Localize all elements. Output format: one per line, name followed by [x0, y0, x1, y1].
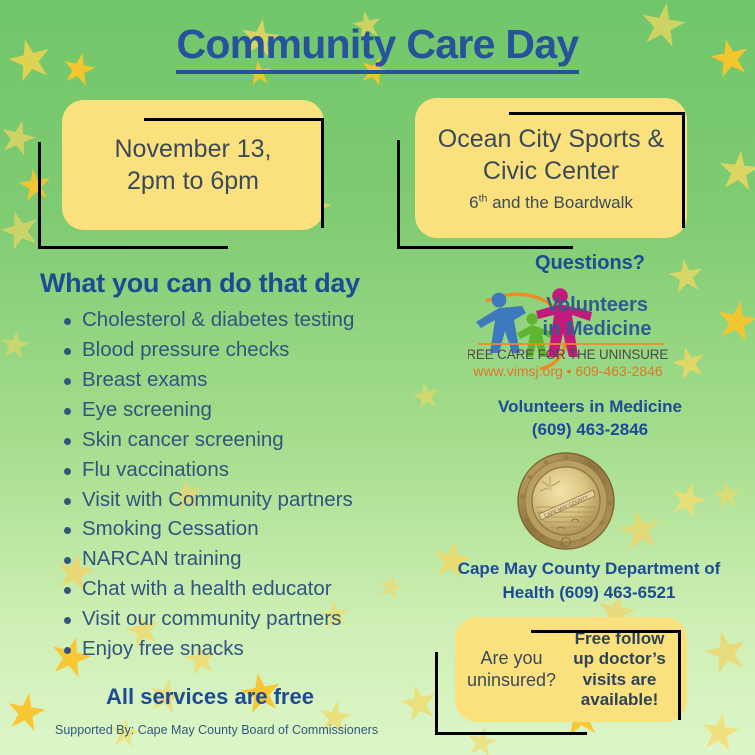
date-card: November 13, 2pm to 6pm: [62, 100, 324, 230]
list-item: NARCAN training: [40, 544, 440, 574]
list-item: Breast exams: [40, 365, 440, 395]
services-heading: What you can do that day: [40, 268, 440, 299]
all-services-free-note: All services are free: [40, 684, 440, 710]
vim-name: Volunteers in Medicine: [440, 396, 740, 419]
venue-card-address: 6th and the Boardwalk: [469, 192, 633, 214]
uninsured-card: Are you uninsured? Free follow up doctor…: [455, 617, 687, 722]
star-icon: [699, 625, 752, 678]
health-dept-line2: Health (609) 463-6521: [424, 581, 754, 605]
uninsured-card-body: Are you uninsured? Free follow up doctor…: [455, 617, 687, 722]
date-card-line1: November 13,: [114, 133, 271, 165]
questions-label: Questions?: [440, 252, 740, 275]
list-item: Blood pressure checks: [40, 335, 440, 365]
list-item: Smoking Cessation: [40, 514, 440, 544]
date-card-body: November 13, 2pm to 6pm: [62, 100, 324, 230]
page-title: Community Care Day: [176, 22, 578, 74]
volunteers-in-medicine-logo: Volunteers in Medicine FREE CARE FOR THE…: [468, 281, 668, 381]
venue-card-line2: Civic Center: [483, 155, 619, 187]
list-item: Enjoy free snacks: [40, 634, 440, 664]
services-list: Cholesterol & diabetes testingBlood pres…: [40, 305, 440, 664]
uninsured-question: Are you uninsured?: [467, 648, 556, 692]
star-icon: [615, 505, 666, 556]
vim-contact-text: Volunteers in Medicine (609) 463-2846: [440, 396, 740, 442]
poster-canvas: Community Care Day November 13, 2pm to 6…: [0, 0, 755, 755]
star-icon: [668, 342, 709, 383]
star-icon: [0, 205, 45, 254]
star-icon: [716, 148, 755, 194]
svg-text:Volunteers: Volunteers: [546, 294, 648, 316]
venue-address-rest: and the Boardwalk: [487, 193, 633, 212]
star-icon: [463, 723, 500, 755]
star-icon: [16, 166, 54, 204]
star-icon: [0, 116, 40, 160]
health-department-contact: Cape May County Department of Health (60…: [424, 557, 754, 605]
star-icon: [713, 297, 755, 346]
vim-phone: (609) 463-2846: [440, 419, 740, 442]
venue-card: Ocean City Sports & Civic Center 6th and…: [415, 98, 687, 238]
date-card-line2: 2pm to 6pm: [127, 165, 259, 197]
star-icon: [0, 328, 32, 362]
star-icon: [711, 479, 744, 512]
svg-text:in Medicine: in Medicine: [543, 318, 652, 340]
svg-text:FREE CARE FOR THE UNINSURED: FREE CARE FOR THE UNINSURED: [468, 347, 668, 362]
list-item: Skin cancer screening: [40, 425, 440, 455]
poster-title-container: Community Care Day: [0, 22, 755, 74]
supported-by-note: Supported By: Cape May County Board of C…: [55, 723, 378, 737]
uninsured-answer: Free follow up doctor’s visits are avail…: [564, 629, 675, 711]
star-icon: [666, 478, 711, 523]
cape-may-county-seal-icon: CAPE MAY COUNTY: [516, 451, 616, 551]
list-item: Chat with a health educator: [40, 574, 440, 604]
svg-text:www.vimsj.org • 609-463-2846: www.vimsj.org • 609-463-2846: [472, 363, 663, 379]
star-icon: [697, 709, 742, 754]
health-dept-line1: Cape May County Department of: [424, 557, 754, 581]
list-item: Visit with Community partners: [40, 485, 440, 515]
list-item: Cholesterol & diabetes testing: [40, 305, 440, 335]
venue-address-ordinal: 6: [469, 193, 478, 212]
venue-card-body: Ocean City Sports & Civic Center 6th and…: [415, 98, 687, 238]
services-column: What you can do that day Cholesterol & d…: [40, 268, 440, 710]
venue-card-line1: Ocean City Sports &: [438, 123, 664, 155]
list-item: Flu vaccinations: [40, 455, 440, 485]
list-item: Visit our community partners: [40, 604, 440, 634]
list-item: Eye screening: [40, 395, 440, 425]
